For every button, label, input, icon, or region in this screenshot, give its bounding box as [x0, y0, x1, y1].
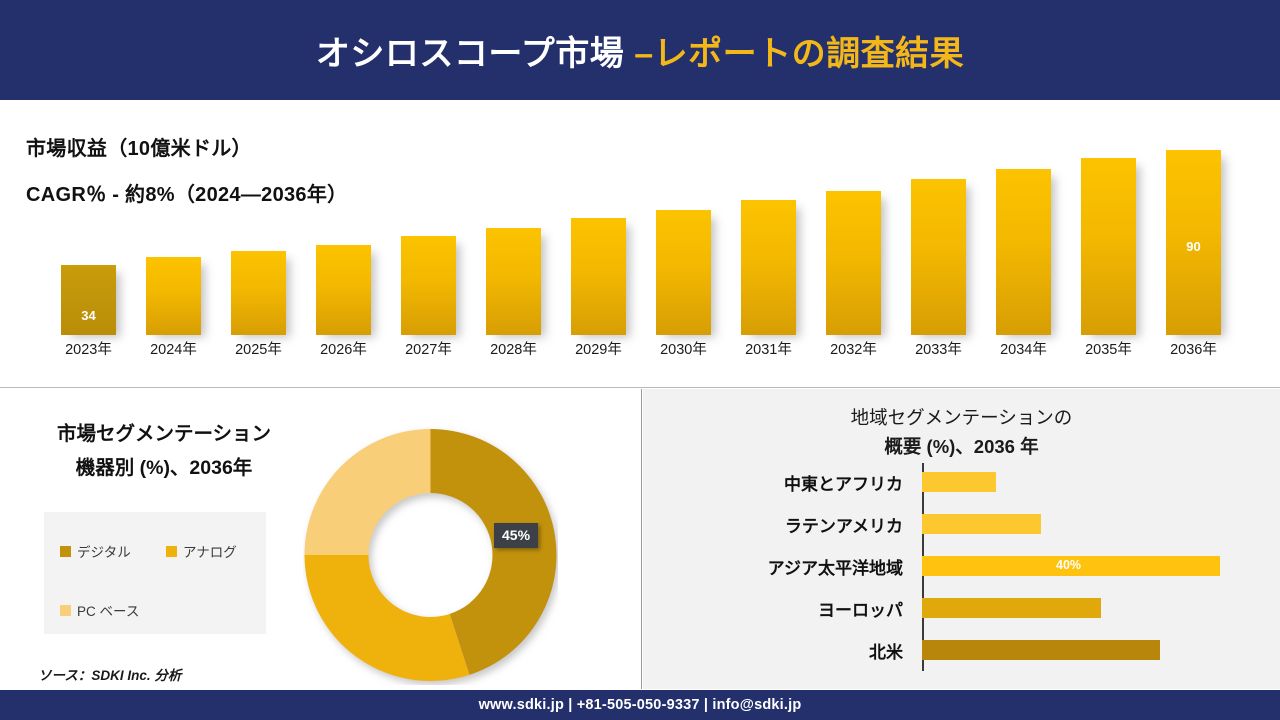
revenue-bar-chart: 3490 2023年2024年2025年2026年2027年2028年2029年… — [46, 130, 1236, 370]
bar-2025年[interactable] — [231, 251, 286, 335]
x-tick-2035年: 2035年 — [1066, 338, 1151, 368]
bar-cell — [726, 130, 811, 335]
bar-cell — [216, 130, 301, 335]
bar-cell — [301, 130, 386, 335]
bar-2030年[interactable] — [656, 210, 711, 335]
x-tick-2027年: 2027年 — [386, 338, 471, 368]
page-title-primary: オシロスコープ市場 — [316, 35, 634, 73]
bar-2029年[interactable] — [571, 218, 626, 335]
region-bar-track — [915, 461, 1263, 503]
bar-cell — [641, 130, 726, 335]
donut-chart — [303, 425, 558, 685]
legend-swatch-icon — [60, 546, 71, 557]
bar-data-label: 90 — [1166, 239, 1221, 254]
bar-cell: 90 — [1151, 130, 1236, 335]
x-tick-2036年: 2036年 — [1151, 338, 1236, 368]
x-tick-2030年: 2030年 — [641, 338, 726, 368]
page-title: オシロスコープ市場 –レポートの調査結果 — [316, 26, 964, 75]
bar-cell: 34 — [46, 130, 131, 335]
region-bar-北米[interactable] — [922, 640, 1160, 660]
legend-label-pc-based: PC ベース — [77, 600, 139, 620]
x-tick-2029年: 2029年 — [556, 338, 641, 368]
region-row-北米: 北米 — [663, 629, 1263, 671]
bar-2027年[interactable] — [401, 236, 456, 335]
donut-slice-pc-based[interactable] — [305, 429, 431, 555]
bar-cell — [981, 130, 1066, 335]
bar-cell — [471, 130, 556, 335]
footer-banner: www.sdki.jp | +81-505-050-9337 | info@sd… — [0, 690, 1280, 720]
region-title-line-2: 概要 (%)、2036 年 — [643, 432, 1280, 461]
bar-2031年[interactable] — [741, 200, 796, 335]
region-bar-ヨーロッパ[interactable] — [922, 598, 1101, 618]
legend-swatch-icon — [166, 546, 177, 557]
region-label-中東とアフリカ: 中東とアフリカ — [663, 470, 915, 495]
region-label-ヨーロッパ: ヨーロッパ — [663, 596, 915, 621]
bar-2034年[interactable] — [996, 169, 1051, 335]
x-tick-2033年: 2033年 — [896, 338, 981, 368]
legend-item-analog[interactable]: アナログ — [166, 541, 237, 561]
page-title-accent: –レポートの調査結果 — [634, 35, 964, 73]
region-label-ラテンアメリカ: ラテンアメリカ — [663, 512, 915, 537]
region-bar-track: 40% — [915, 545, 1263, 587]
region-bar-track — [915, 629, 1263, 671]
x-tick-2028年: 2028年 — [471, 338, 556, 368]
region-bar-track — [915, 587, 1263, 629]
region-row-中東とアフリカ: 中東とアフリカ — [663, 461, 1263, 503]
bar-chart-x-axis: 2023年2024年2025年2026年2027年2028年2029年2030年… — [46, 338, 1236, 368]
legend-item-pc-based[interactable]: PC ベース — [60, 600, 139, 620]
donut-slice-analog[interactable] — [305, 555, 470, 681]
bar-cell — [811, 130, 896, 335]
x-tick-2034年: 2034年 — [981, 338, 1066, 368]
bar-cell — [386, 130, 471, 335]
donut-slices — [305, 429, 557, 681]
legend-label-analog: アナログ — [183, 541, 237, 561]
footer-contact-text: www.sdki.jp | +81-505-050-9337 | info@sd… — [479, 697, 802, 713]
legend-item-digital[interactable]: デジタル — [60, 541, 131, 561]
bar-cell — [131, 130, 216, 335]
donut-chart-title: 市場セグメンテーション 機器別 (%)、2036年 — [14, 417, 314, 485]
bar-2024年[interactable] — [146, 257, 201, 335]
donut-title-line-1: 市場セグメンテーション — [14, 417, 314, 451]
donut-legend: デジタル アナログ PC ベース — [44, 512, 266, 634]
revenue-bar-chart-panel: 市場収益（10億米ドル） CAGR％ - 約8%（2024—2036年） 349… — [0, 100, 1280, 388]
x-tick-2031年: 2031年 — [726, 338, 811, 368]
header-banner: オシロスコープ市場 –レポートの調査結果 — [0, 0, 1280, 100]
region-bar-series: 中東とアフリカラテンアメリカアジア太平洋地域40%ヨーロッパ北米 — [663, 461, 1263, 673]
region-row-アジア太平洋地域: アジア太平洋地域40% — [663, 545, 1263, 587]
bar-2035年[interactable] — [1081, 158, 1136, 335]
x-tick-2025年: 2025年 — [216, 338, 301, 368]
region-title-line-1: 地域セグメンテーションの — [643, 403, 1280, 432]
x-tick-2023年: 2023年 — [46, 338, 131, 368]
donut-data-label: 45% — [494, 523, 538, 548]
legend-swatch-icon — [60, 605, 71, 616]
bar-cell — [1066, 130, 1151, 335]
bar-cell — [896, 130, 981, 335]
bar-2033年[interactable] — [911, 179, 966, 335]
x-tick-2026年: 2026年 — [301, 338, 386, 368]
region-bar-track — [915, 503, 1263, 545]
region-label-北米: 北米 — [663, 638, 915, 663]
bar-2036年[interactable]: 90 — [1166, 150, 1221, 335]
slide-canvas: オシロスコープ市場 –レポートの調査結果 市場収益（10億米ドル） CAGR％ … — [0, 0, 1280, 720]
bar-2026年[interactable] — [316, 245, 371, 335]
region-label-アジア太平洋地域: アジア太平洋地域 — [663, 554, 915, 579]
donut-chart-svg — [303, 425, 558, 685]
bar-series: 3490 — [46, 130, 1236, 335]
legend-label-digital: デジタル — [77, 541, 131, 561]
donut-title-line-2: 機器別 (%)、2036年 — [14, 451, 314, 485]
bar-2023年[interactable]: 34 — [61, 265, 116, 335]
bar-2032年[interactable] — [826, 191, 881, 335]
bar-data-label: 34 — [61, 308, 116, 323]
bar-2028年[interactable] — [486, 228, 541, 335]
x-tick-2024年: 2024年 — [131, 338, 216, 368]
region-row-ラテンアメリカ: ラテンアメリカ — [663, 503, 1263, 545]
x-tick-2032年: 2032年 — [811, 338, 896, 368]
bar-cell — [556, 130, 641, 335]
region-bar-中東とアフリカ[interactable] — [922, 472, 996, 492]
region-row-ヨーロッパ: ヨーロッパ — [663, 587, 1263, 629]
region-bar-ラテンアメリカ[interactable] — [922, 514, 1041, 534]
region-chart-title: 地域セグメンテーションの 概要 (%)、2036 年 — [643, 403, 1280, 461]
region-bar-chart-panel: 地域セグメンテーションの 概要 (%)、2036 年 中東とアフリカラテンアメリ… — [643, 389, 1280, 689]
source-note: ソース：SDKI Inc. 分析 — [38, 664, 181, 684]
region-data-label: 40% — [1056, 558, 1081, 572]
